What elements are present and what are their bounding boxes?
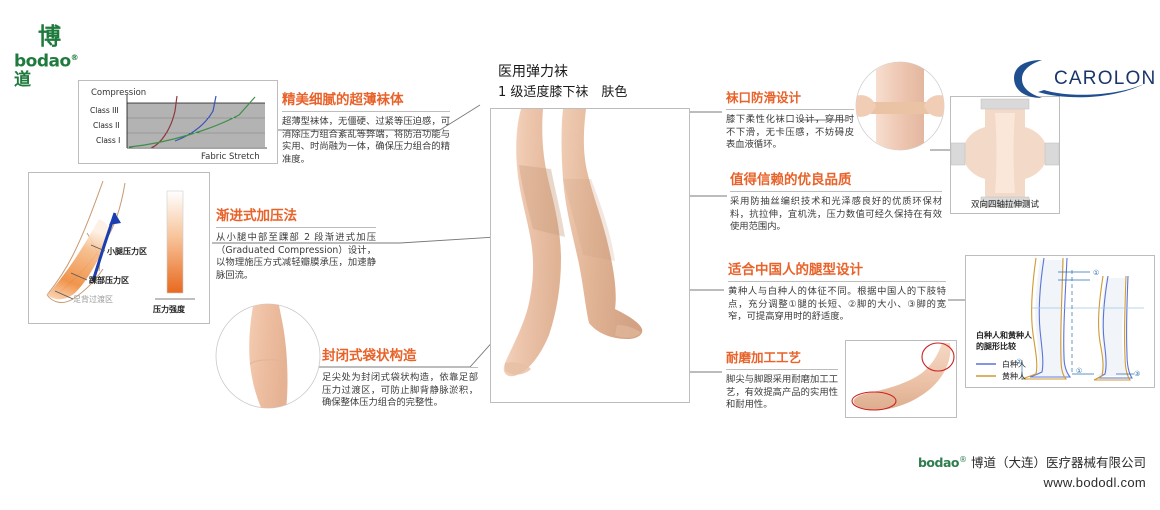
pressure-zone-label-calf: 小腿压力区 xyxy=(106,246,147,256)
divider xyxy=(216,227,376,228)
callout-ultra-thin: 精美细腻的超薄袜体 超薄型袜体，无僵硬、过紧等压迫感，可消除压力组合紊乱等弊端，… xyxy=(282,92,450,166)
legend-label-asian: 黄种人 xyxy=(1002,371,1026,381)
callout-body: 采用防抽丝编织技术和光泽感良好的优质环保材料，抗拉伸，宜机洗，压力数值可经久保持… xyxy=(730,196,942,234)
toe-heel-photo xyxy=(845,340,957,418)
callout-body: 足尖处为封闭式袋状构造，依靠足部压力过渡区，可防止脚背静脉淤积，确保整体压力组合… xyxy=(322,372,478,410)
flow-arrow-head xyxy=(109,213,121,225)
footer: bodao® 博道（大连）医疗器械有限公司 www.bododl.com xyxy=(918,450,1146,492)
callout-title: 耐磨加工工艺 xyxy=(726,350,838,369)
footer-company-line: bodao® 博道（大连）医疗器械有限公司 xyxy=(918,450,1146,473)
callout-title: 值得信赖的优良品质 xyxy=(730,172,942,191)
leg-compare-marker-1: ① xyxy=(1093,269,1099,277)
carolon-logo: CAROLON xyxy=(1008,58,1148,100)
callout-chinese-leg-shape: 适合中国人的腿型设计 黄种人与白种人的体征不同。根据中国人的下肢特点，充分调整①… xyxy=(728,262,946,324)
brand-logo-cn-glyph: 博 xyxy=(38,26,100,49)
pressure-intensity-gauge xyxy=(167,191,183,293)
callout-anti-slip-cuff: 袜口防滑设计 膝下柔性化袜口设计，穿用时不下滑，无卡压感，不妨碍皮表血液循环。 xyxy=(726,90,854,152)
divider xyxy=(728,281,946,282)
pressure-zone-label-ankle: 踝部压力区 xyxy=(89,275,129,285)
callout-title: 袜口防滑设计 xyxy=(726,90,854,109)
chart-y-axis-label: Compression xyxy=(91,88,146,98)
leg-compare-marker-3: ③ xyxy=(1134,370,1140,378)
callout-body: 脚尖与脚跟采用耐磨加工工艺，有效提高产品的实用性和耐用性。 xyxy=(726,374,838,412)
leg-compare-marker-1b: ① xyxy=(1076,367,1082,375)
product-subtitle: 1 级适度膝下袜 肤色 xyxy=(498,83,718,103)
callout-trusted-quality: 值得信赖的优良品质 采用防抽丝编织技术和光泽感良好的优质环保材料，抗拉伸，宜机洗… xyxy=(730,172,942,234)
cuff-stretch-photo xyxy=(850,58,950,154)
divider xyxy=(726,369,838,370)
chart-tick-class-3: Class III xyxy=(90,106,119,115)
leg-shape-comparison-diagram: ① ① ② ③ 白种人和黄种人 的腿形比较 白种人 黄种人 xyxy=(965,255,1155,388)
divider xyxy=(726,109,854,110)
footer-website: www.bododl.com xyxy=(918,473,1146,492)
product-title-block: 医用弹力袜 1 级适度膝下袜 肤色 xyxy=(498,62,718,103)
callout-title: 渐进式加压法 xyxy=(216,208,376,227)
leg-compare-caption-line2: 的腿形比较 xyxy=(976,341,1016,351)
callout-body: 从小腿中部至踝部 2 段渐进式加压（Graduated Compression）… xyxy=(216,232,376,282)
front-leg xyxy=(504,109,561,376)
divider xyxy=(322,367,478,368)
pressure-gauge-caption: 压力强度 xyxy=(153,304,186,314)
brand-logo-en-text: bodao xyxy=(14,52,71,72)
callout-body: 膝下柔性化袜口设计，穿用时不下滑，无卡压感，不妨碍皮表血液循环。 xyxy=(726,114,854,152)
carolon-swoosh-left xyxy=(1014,60,1042,98)
callout-graduated-compression: 渐进式加压法 从小腿中部至踝部 2 段渐进式加压（Graduated Compr… xyxy=(216,208,376,282)
pressure-zone-label-instep: 足背过渡区 xyxy=(73,294,113,304)
brand-logo-registered-mark: ® xyxy=(71,53,79,62)
sock-toe-photo xyxy=(214,300,322,412)
stretch-test-photo: 双向四轴拉伸测试 xyxy=(950,96,1060,214)
carolon-wordmark: CAROLON xyxy=(1054,68,1156,90)
chart-tick-class-2: Class II xyxy=(93,121,120,130)
divider xyxy=(282,111,450,112)
divider xyxy=(730,191,942,192)
callout-title: 封闭式袋状构造 xyxy=(322,348,478,367)
page-title: 医用弹力袜 xyxy=(498,62,718,83)
brand-logo: 博 bodao® 道 xyxy=(14,26,100,74)
callout-title: 适合中国人的腿型设计 xyxy=(728,262,946,281)
stretch-test-caption: 双向四轴拉伸测试 xyxy=(951,198,1059,210)
footer-registered-mark: ® xyxy=(959,455,967,464)
chart-x-axis-label: Fabric Stretch xyxy=(201,152,260,162)
compression-chart: Compression Class III Class II Class I F… xyxy=(78,80,278,164)
brand-logo-cn-right: 道 xyxy=(14,70,31,90)
footer-company-name: 博道（大连）医疗器械有限公司 xyxy=(971,455,1146,470)
callout-closed-toe-pocket: 封闭式袋状构造 足尖处为封闭式袋状构造，依靠足部压力过渡区，可防止脚背静脉淤积，… xyxy=(322,348,478,410)
product-photo xyxy=(490,108,690,403)
callout-wear-resistant: 耐磨加工工艺 脚尖与脚跟采用耐磨加工工艺，有效提高产品的实用性和耐用性。 xyxy=(726,350,838,412)
callout-body: 超薄型袜体，无僵硬、过紧等压迫感，可消除压力组合紊乱等弊端，将防治功能与实用、时… xyxy=(282,116,450,166)
leg-compare-caption-line1: 白种人和黄种人 xyxy=(976,330,1033,340)
chart-tick-class-1: Class I xyxy=(96,136,120,145)
callout-body: 黄种人与白种人的体征不同。根据中国人的下肢特点，充分调整①腿的长短、②脚的大小、… xyxy=(728,286,946,324)
callout-title: 精美细腻的超薄袜体 xyxy=(282,92,450,111)
legend-label-caucasian: 白种人 xyxy=(1002,359,1026,369)
pressure-zone-diagram: 小腿压力区 踝部压力区 足背过渡区 压力强度 xyxy=(28,172,210,324)
footer-logo-text: bodao xyxy=(918,455,959,470)
